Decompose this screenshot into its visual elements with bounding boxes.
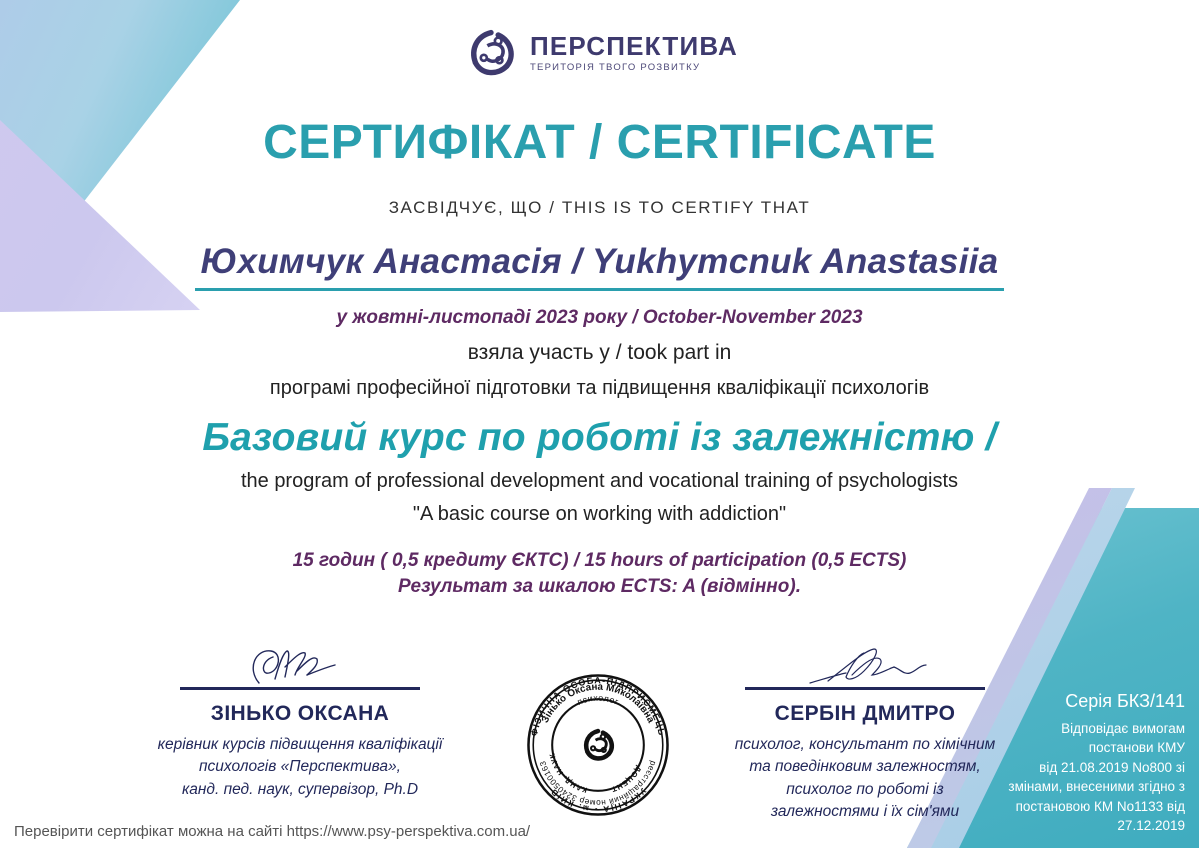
series-note-line-3: від 21.08.2019 No800 зі [967,758,1185,778]
recipient-block: Юхимчук Анастасія / Yukhymcnuk Anastasii… [0,242,1199,291]
signature-mark-zinko-icon [150,645,450,685]
brand-logo: ПЕРСПЕКТИВА ТЕРИТОРІЯ ТВОГО РОЗВИТКУ [0,22,1199,84]
series-regulation-note: Відповідає вимогам постанови КМУ від 21.… [967,719,1185,836]
hours-and-result: 15 годин ( 0,5 кредиту ЄКТС) / 15 hours … [0,548,1199,599]
logo-text-block: ПЕРСПЕКТИВА ТЕРИТОРІЯ ТВОГО РОЗВИТКУ [530,33,738,73]
signature-mark-serbin-icon [715,645,1015,685]
series-note-line-6: 27.12.2019 [967,816,1185,836]
course-date: у жовтні-листопаді 2023 року / October-N… [0,307,1199,329]
participation-statement: взяла участь у / took part in [0,341,1199,365]
series-note-line-5: постановою КМ No1133 від [967,797,1185,817]
recipient-underline [195,288,1005,291]
program-description-uk: програмі професійної підготовки та підви… [0,377,1199,400]
signature-line-left [180,687,420,690]
certify-statement: ЗАСВІДЧУЄ, ЩО / THIS IS TO CERTIFY THAT [0,198,1199,218]
certificate-title: СЕРТИФІКАТ / CERTIFICATE [0,118,1199,168]
signatory-title-left-line-2: психологів «Перспектива», [150,756,450,778]
hours-line-1: 15 годин ( 0,5 кредиту ЄКТС) / 15 hours … [0,548,1199,574]
signature-block-left: ЗІНЬКО ОКСАНА керівник курсів підвищення… [150,645,450,801]
signatory-title-left: керівник курсів підвищення кваліфікації … [150,734,450,801]
logo-tagline: ТЕРИТОРІЯ ТВОГО РОЗВИТКУ [530,63,700,73]
series-note-line-2: постанови КМУ [967,738,1185,758]
course-title-en: "A basic course on working with addictio… [0,503,1199,526]
series-note-line-1: Відповідає вимогам [967,719,1185,739]
recipient-inner: Юхимчук Анастасія / Yukhymcnuk Anastasii… [195,242,1005,291]
signatory-name-left: ЗІНЬКО ОКСАНА [150,702,450,726]
signatory-title-left-line-3: канд. пед. наук, супервізор, Ph.D [150,779,450,801]
program-description-en: the program of professional development … [0,470,1199,493]
perspektiva-trefoil-logo-icon [461,22,521,84]
series-code: Серія БКЗ/141 [967,691,1185,713]
recipient-name: Юхимчук Анастасія / Yukhymcnuk Anastasii… [195,242,1005,282]
course-title: Базовий курс по роботі із залежністю / [0,416,1199,460]
certificate-page: ПЕРСПЕКТИВА ТЕРИТОРІЯ ТВОГО РОЗВИТКУ СЕР… [0,0,1199,848]
hours-line-2: Результат за шкалою ECTS: A (відмінно). [0,574,1199,600]
series-panel: Серія БКЗ/141 Відповідає вимогам постано… [967,691,1185,836]
signatory-title-left-line-1: керівник курсів підвищення кваліфікації [150,734,450,756]
signature-line-right [745,687,985,690]
certificate-body: СЕРТИФІКАТ / CERTIFICATE ЗАСВІДЧУЄ, ЩО /… [0,118,1199,600]
official-seal-stamp-icon: ФІЗИЧНА ОСОБА-ПІДПРИЄМЕЦЬ Зінько Оксана … [519,666,677,824]
logo-wordmark: ПЕРСПЕКТИВА [530,33,738,59]
series-note-line-4: змінами, внесеними згідно з [967,777,1185,797]
verify-footer-text: Перевірити сертифікат можна на сайті htt… [14,823,530,840]
